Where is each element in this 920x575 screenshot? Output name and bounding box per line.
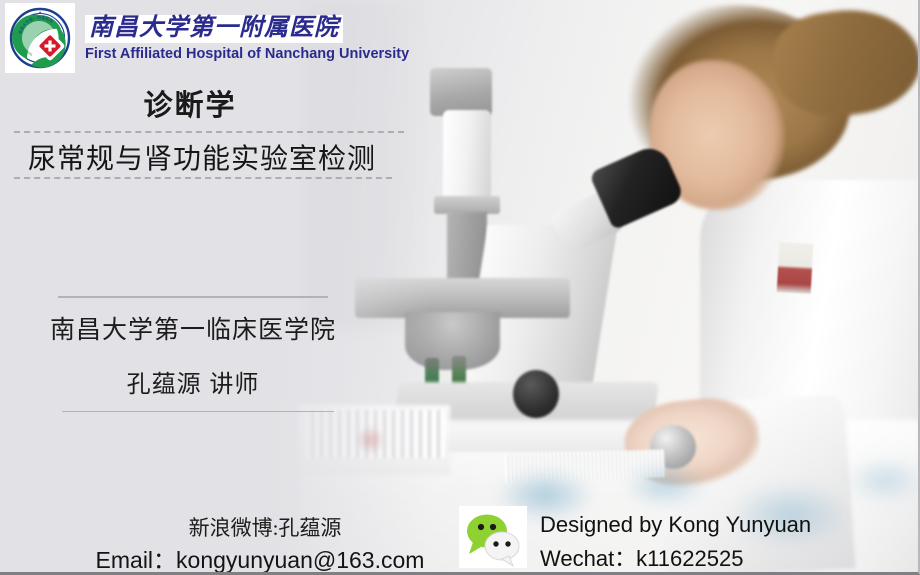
hospital-name-cn: 南昌大学第一附属医院 [85, 15, 343, 43]
wechat-icon [459, 506, 527, 568]
affiliation-divider-top [58, 296, 328, 298]
affiliation-organization: 南昌大学第一临床医学院 [38, 310, 348, 346]
affiliation-divider-bottom [62, 411, 334, 412]
weibo-handle: 新浪微博:孔蕴源 [100, 512, 430, 542]
title-divider-top [14, 131, 404, 133]
wechat-logo [459, 506, 527, 568]
microscope-camera-barrel [443, 110, 491, 205]
title-divider-bottom [14, 177, 392, 179]
course-title: 诊断学 [0, 82, 380, 124]
wechat-id: Wechat：k11622525 [540, 541, 743, 573]
microscope-focus-knob-left [513, 370, 559, 418]
microscope-camera-head [430, 68, 492, 116]
lab-coat-badge [777, 242, 814, 294]
svg-text:★: ★ [38, 10, 41, 14]
designed-by-label: Designed by Kong Yunyuan [540, 512, 811, 538]
email-address: Email：kongyunyuan@163.com [80, 541, 440, 575]
hospital-logo: ★ 南昌大学第一附属医院 1939 [5, 3, 75, 73]
presenter-name: 孔蕴源 讲师 [38, 364, 348, 399]
presentation-slide: ★ 南昌大学第一附属医院 1939 南昌大学第一附属医院 First Affil… [0, 0, 920, 575]
slide-subtitle: 尿常规与肾功能实验室检测 [0, 137, 404, 177]
hospital-emblem-icon: ★ 南昌大学第一附属医院 1939 [9, 7, 71, 69]
hospital-name-en: First Affiliated Hospital of Nanchang Un… [85, 46, 409, 62]
